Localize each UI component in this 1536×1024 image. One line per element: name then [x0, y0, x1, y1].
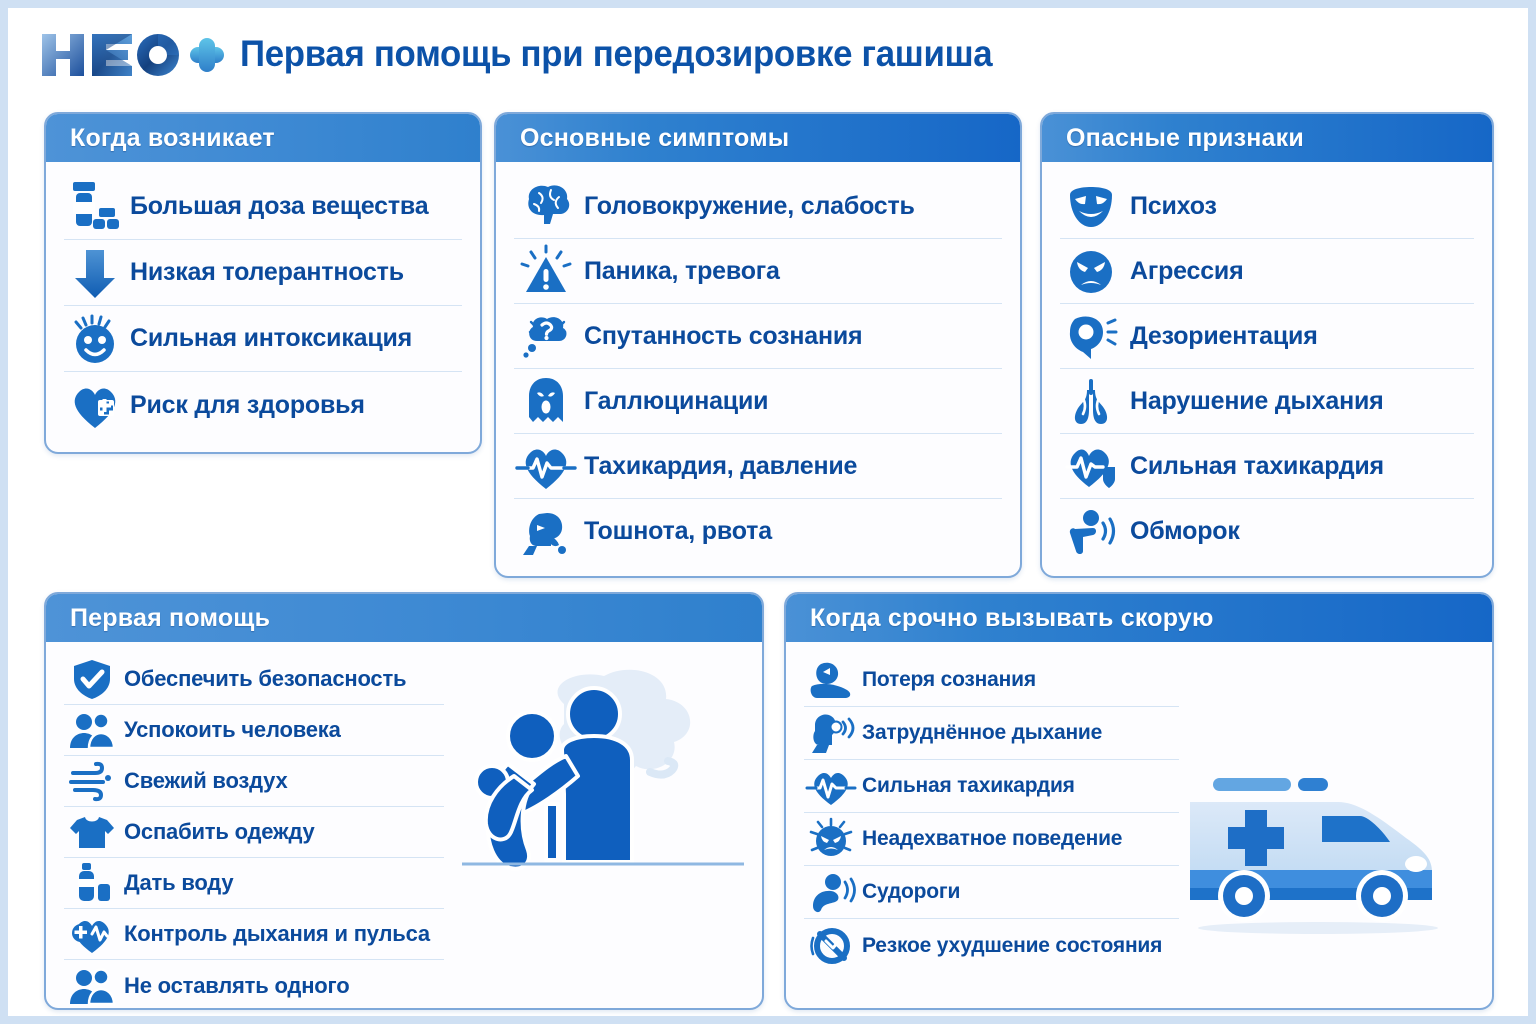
heart-pulse-icon [804, 763, 858, 809]
pill-bottle-icon [64, 178, 126, 236]
list-item-label: Большая доза вещества [130, 192, 428, 221]
card-title: Когда срочно вызывать скорую [810, 604, 1214, 633]
heart-pulse-shield-icon [1060, 437, 1122, 495]
list-item[interactable]: Не оставлять одного [64, 960, 444, 1010]
list-item[interactable]: Дать воду [64, 858, 444, 909]
card-body: Большая доза вещества Низкая толерантнос… [46, 162, 480, 452]
poster-header: Первая помощь при передозировке гашиша [8, 8, 1528, 100]
list-item[interactable]: Большая доза вещества [64, 174, 462, 240]
breathing-difficulty-icon [804, 710, 858, 756]
list-item-label: Риск для здоровья [130, 391, 365, 420]
list-item-label: Галлюцинации [584, 387, 768, 416]
card-danger-signs: Опасные признаки Психоз [1040, 112, 1494, 578]
card-header: Опасные признаки [1042, 114, 1492, 162]
card-title: Опасные признаки [1066, 124, 1304, 153]
list-item-label: Дезориентация [1130, 322, 1318, 351]
list-item[interactable]: Тошнота, рвота [514, 499, 1002, 564]
convulsions-icon [804, 869, 858, 915]
list-item-label: Сильная тахикардия [1130, 452, 1384, 481]
list-item[interactable]: Резкое ухудшение состояния [804, 919, 1179, 972]
angry-face-icon [1060, 242, 1122, 300]
poster-page: Первая помощь при передозировке гашиша К… [8, 8, 1528, 1016]
list-item-label: Контроль дыхания и пульса [124, 921, 430, 947]
card-body: Психоз Агрессия [1042, 162, 1492, 576]
card-main-symptoms: Основные симптомы Головокружение, слабос… [494, 112, 1022, 578]
list-item[interactable]: Свежий воздух [64, 756, 444, 807]
card-header: Когда срочно вызывать скорую [786, 594, 1492, 642]
list-item-label: Тошнота, рвота [584, 517, 772, 546]
two-people-icon [64, 707, 120, 753]
card-title: Основные симптомы [520, 124, 789, 153]
list-item-label: Головокружение, слабость [584, 192, 915, 221]
list-item[interactable]: Дезориентация [1060, 304, 1474, 369]
list-item[interactable]: Судороги [804, 866, 1179, 919]
list-item[interactable]: Затруднённое дыхание [804, 707, 1179, 760]
card-call-ambulance: Когда срочно вызывать скорую Потеря созн… [784, 592, 1494, 1010]
list-item-label: Потеря сознания [862, 668, 1036, 692]
list-item-label: Тахикардия, давление [584, 452, 857, 481]
list-item-label: Агрессия [1130, 257, 1243, 286]
lungs-icon [1060, 372, 1122, 430]
list-item[interactable]: Риск для здоровья [64, 372, 462, 438]
neo-plus-logo [38, 26, 226, 82]
list-item-label: Оспабить одежду [124, 819, 315, 845]
emergency-list: Потеря сознания Затруднённое дыхание [804, 654, 1179, 972]
list-item-label: Свежий воздух [124, 768, 288, 794]
card-title: Когда возникает [70, 124, 275, 153]
water-bottle-icon [64, 860, 120, 906]
list-item[interactable]: Агрессия [1060, 239, 1474, 304]
card-body: Потеря сознания Затруднённое дыхание [786, 642, 1492, 1008]
list-item[interactable]: Галлюцинации [514, 369, 1002, 434]
ghost-icon [514, 372, 578, 430]
list-item-label: Неадехватное поведение [862, 827, 1122, 851]
evil-mask-icon [1060, 177, 1122, 235]
heart-cross-pulse-icon [64, 911, 120, 957]
vomiting-icon [514, 503, 578, 561]
list-item-label: Спутанность сознания [584, 322, 862, 351]
list-item[interactable]: Сильная тахикардия [804, 760, 1179, 813]
dizzy-face-icon [64, 310, 126, 368]
list-item[interactable]: Психоз [1060, 174, 1474, 239]
question-cloud-icon [514, 307, 578, 365]
list-item[interactable]: Контроль дыхания и пульса [64, 909, 444, 960]
warning-triangle-icon [514, 242, 578, 300]
list-item-label: Сильная тахикардия [862, 774, 1075, 798]
shield-check-icon [64, 656, 120, 702]
ambulance-illustration [1168, 760, 1468, 940]
declining-state-icon [804, 923, 858, 969]
list-item[interactable]: Головокружение, слабость [514, 174, 1002, 239]
list-item-label: Нарушение дыхания [1130, 387, 1384, 416]
list-item[interactable]: Низкая толерантность [64, 240, 462, 306]
list-item-label: Обморок [1130, 517, 1240, 546]
list-item-label: Не оставлять одного [124, 973, 349, 999]
list-item[interactable]: Обморок [1060, 499, 1474, 564]
unconscious-person-icon [804, 657, 858, 703]
card-header: Основные симптомы [496, 114, 1020, 162]
card-body: Обеспечить безопасность Успокоить челове… [46, 642, 762, 1008]
brain-icon [514, 177, 578, 235]
list-item[interactable]: Тахикардия, давление [514, 434, 1002, 499]
list-item[interactable]: Сильная тахикардия [1060, 434, 1474, 499]
list-item-label: Успокоить человека [124, 717, 341, 743]
agitated-face-icon [804, 816, 858, 862]
fainting-person-icon [1060, 503, 1122, 561]
card-header: Когда возникает [46, 114, 480, 162]
tshirt-icon [64, 809, 120, 855]
list-item[interactable]: Сильная интоксикация [64, 306, 462, 372]
list-item[interactable]: Потеря сознания [804, 654, 1179, 707]
card-header: Первая помощь [46, 594, 762, 642]
list-item[interactable]: Оспабить одежду [64, 807, 444, 858]
wind-icon [64, 758, 120, 804]
list-item[interactable]: Спутанность сознания [514, 304, 1002, 369]
list-item[interactable]: Обеспечить безопасность [64, 654, 444, 705]
card-title: Первая помощь [70, 604, 270, 633]
heart-pulse-icon [514, 437, 578, 495]
card-when-occurs: Когда возникает Большая доза вещества [44, 112, 482, 454]
card-body: Головокружение, слабость Паника, тревога [496, 162, 1020, 576]
list-item-label: Паника, тревога [584, 257, 780, 286]
list-item-label: Резкое ухудшение состояния [862, 934, 1162, 958]
list-item[interactable]: Паника, тревога [514, 239, 1002, 304]
first-aid-list: Обеспечить безопасность Успокоить челове… [64, 654, 444, 1010]
list-item[interactable]: Нарушение дыхания [1060, 369, 1474, 434]
list-item-label: Психоз [1130, 192, 1217, 221]
two-people-comforting-illustration [454, 664, 754, 914]
list-item-label: Дать воду [124, 870, 233, 896]
list-item-label: Судороги [862, 880, 960, 904]
list-item[interactable]: Неадехватное поведение [804, 813, 1179, 866]
page-title: Первая помощь при передозировке гашиша [240, 33, 992, 75]
list-item-label: Сильная интоксикация [130, 324, 412, 353]
two-people-icon [64, 963, 120, 1009]
card-first-aid: Первая помощь Обеспечить безопасность [44, 592, 764, 1010]
list-item[interactable]: Успокоить человека [64, 705, 444, 756]
list-item-label: Обеспечить безопасность [124, 666, 406, 692]
heart-cross-icon [64, 376, 126, 434]
down-arrow-icon [64, 244, 126, 302]
list-item-label: Низкая толерантность [130, 258, 404, 287]
dizzy-head-icon [1060, 307, 1122, 365]
list-item-label: Затруднённое дыхание [862, 721, 1102, 745]
